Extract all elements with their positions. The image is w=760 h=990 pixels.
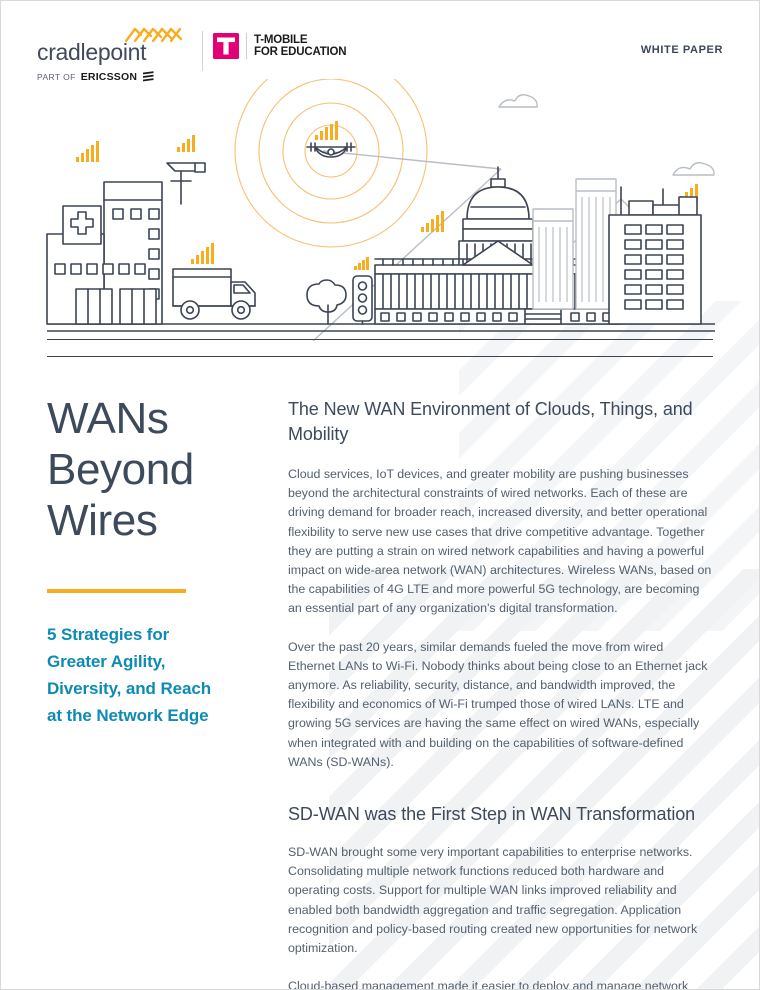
section-2-paragraph-1: SD-WAN brought some very important capab… xyxy=(288,843,713,958)
office-building xyxy=(609,184,701,324)
page-subtitle-line-2: Greater Agility, xyxy=(47,648,267,675)
cradlepoint-wordmark: cradlepoint xyxy=(37,41,187,64)
header-rule-bottom xyxy=(47,356,713,357)
page-title: WANs Beyond Wires xyxy=(47,393,267,546)
section-1-paragraph-1: Cloud services, IoT devices, and greater… xyxy=(288,465,713,619)
page-title-line-2: Beyond xyxy=(47,444,267,495)
cradlepoint-swoosh-icon xyxy=(123,25,185,43)
signal-bars-icon xyxy=(354,257,369,270)
cradlepoint-logo[interactable]: cradlepoint PART OF ERICSSON xyxy=(37,29,187,83)
signal-bars-icon xyxy=(421,211,444,232)
document-type-label: WHITE PAPER xyxy=(641,44,723,56)
delivery-truck-icon xyxy=(173,243,255,319)
signal-bars-icon xyxy=(177,135,195,152)
tree-icon xyxy=(307,280,346,324)
t-mobile-lockup-text: T-MOBILE FOR EDUCATION xyxy=(254,34,346,59)
signal-rings xyxy=(235,79,427,247)
hero-illustration: .dk{fill:none;stroke:#3c4454;stroke-widt… xyxy=(1,79,760,341)
title-column: WANs Beyond Wires 5 Strategies for Great… xyxy=(47,393,267,729)
section-heading-1: The New WAN Environment of Clouds, Thing… xyxy=(288,397,713,447)
section-2-paragraph-2: Cloud-based management made it easier to… xyxy=(288,977,713,990)
page-title-line-3: Wires xyxy=(47,495,267,546)
signal-bars-icon xyxy=(76,141,99,162)
signal-bars-icon xyxy=(191,243,214,264)
signal-bars-icon xyxy=(315,121,338,140)
white-paper-page: cradlepoint PART OF ERICSSON xyxy=(0,0,760,990)
page-subtitle-line-4: at the Network Edge xyxy=(47,702,267,729)
header-divider xyxy=(202,31,203,71)
t-mobile-magenta-t-icon xyxy=(213,33,239,59)
security-camera-icon xyxy=(167,135,205,204)
section-heading-2: SD-WAN was the First Step in WAN Transfo… xyxy=(288,802,713,827)
t-mobile-for-education-logo[interactable]: T-MOBILE FOR EDUCATION xyxy=(213,33,346,59)
page-subtitle-line-3: Diversity, and Reach xyxy=(47,675,267,702)
t-mobile-line2: FOR EDUCATION xyxy=(254,46,346,59)
body-column: The New WAN Environment of Clouds, Thing… xyxy=(288,397,713,990)
t-mobile-line1: T-MOBILE xyxy=(254,34,346,47)
cloud-icon xyxy=(673,163,714,175)
page-subtitle-line-1: 5 Strategies for xyxy=(47,621,267,648)
skyscraper-short xyxy=(533,209,573,309)
drone-icon xyxy=(307,121,355,157)
traffic-light-icon xyxy=(353,257,372,324)
hospital-building xyxy=(47,141,162,324)
page-title-line-1: WANs xyxy=(47,393,267,444)
title-divider xyxy=(47,589,186,593)
header-rule-top xyxy=(47,339,713,340)
t-mobile-logo-divider xyxy=(246,33,247,59)
page-subtitle: 5 Strategies for Greater Agility, Divers… xyxy=(47,621,267,729)
section-1-paragraph-2: Over the past 20 years, similar demands … xyxy=(288,638,713,772)
cloud-icon xyxy=(499,95,537,107)
